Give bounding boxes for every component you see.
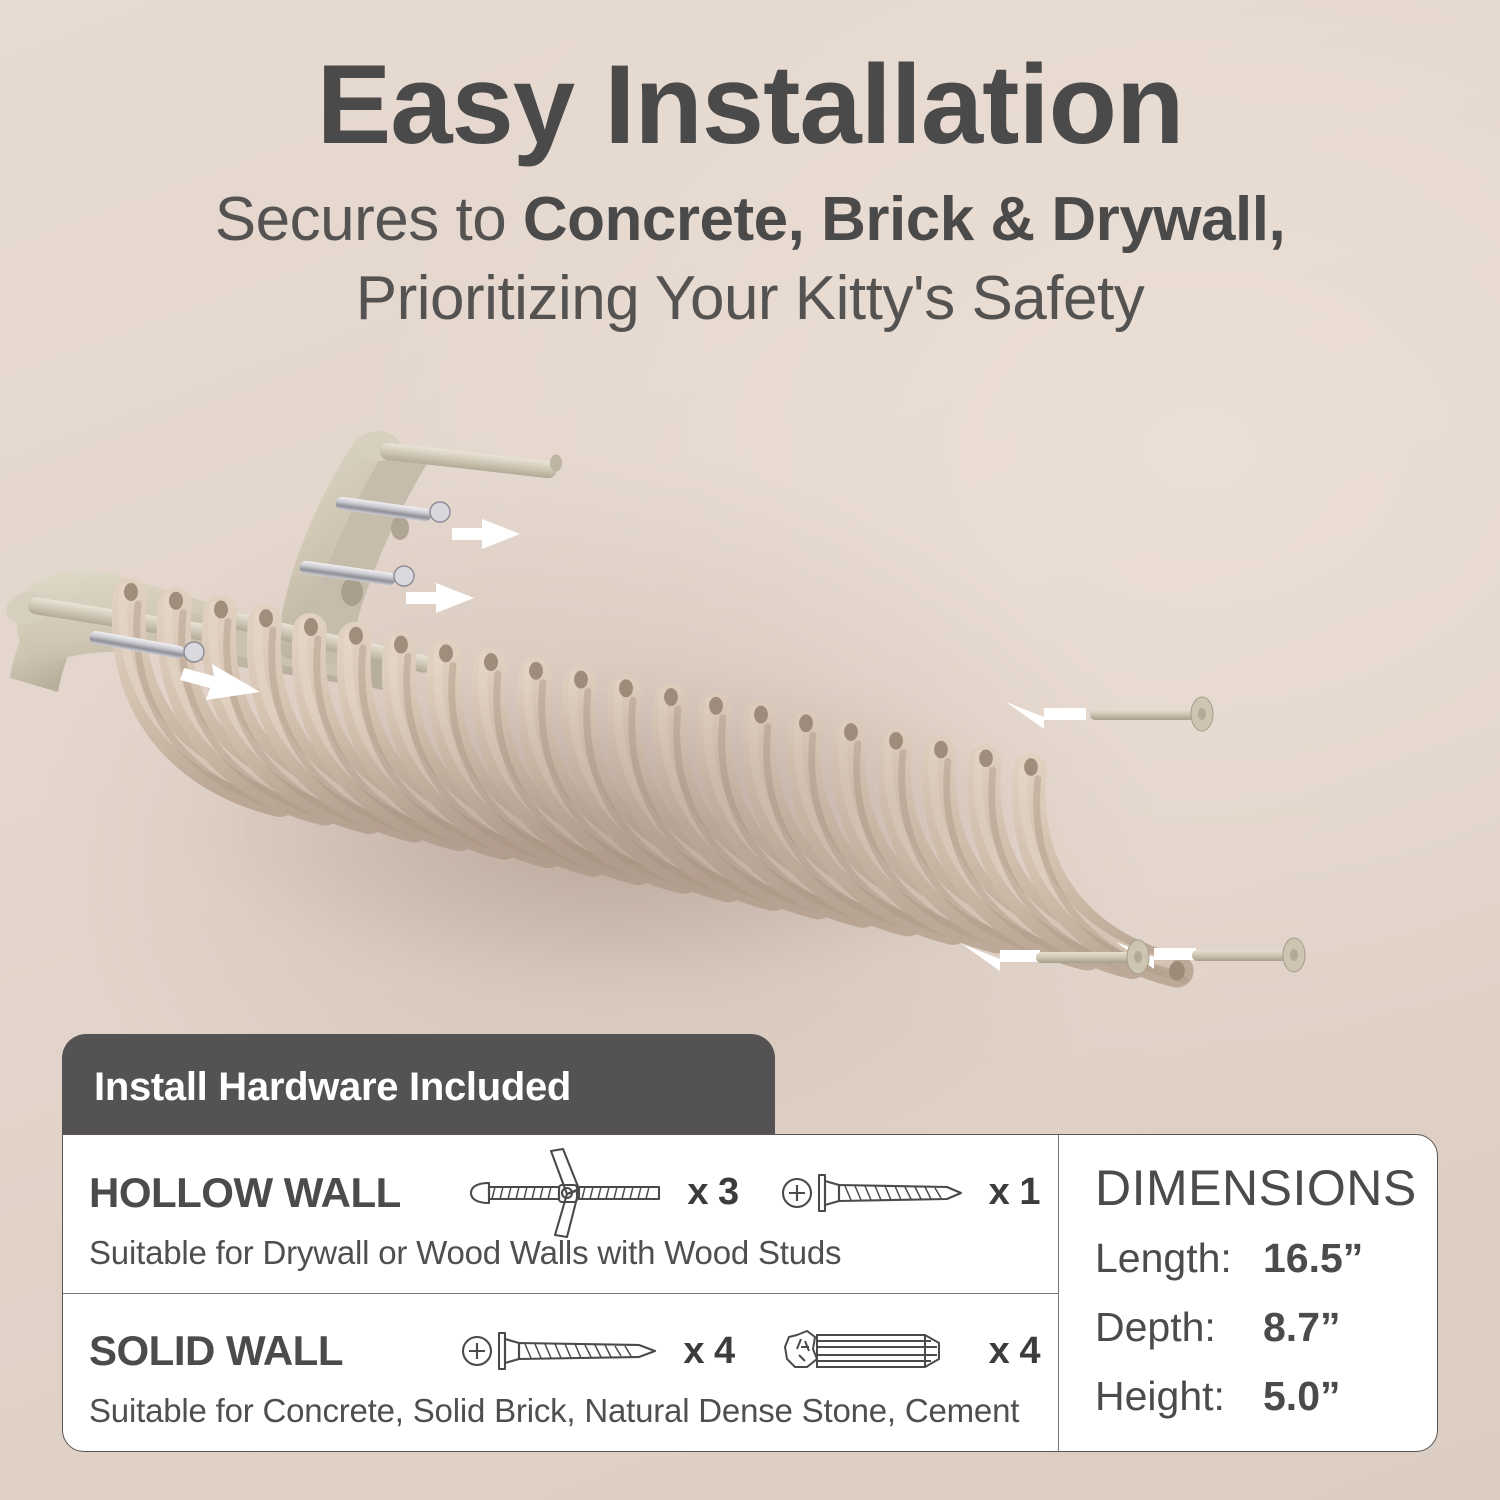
dimension-value-length: 16.5”: [1263, 1235, 1363, 1282]
subtitle-light-part: Secures to: [215, 185, 523, 254]
subtitle-line-2: Prioritizing Your Kitty's Safety: [0, 263, 1500, 336]
hollow-wall-items: x 3: [463, 1145, 1058, 1241]
phillips-screw-icon: [459, 1323, 669, 1379]
dimension-label-depth: Depth:: [1095, 1304, 1263, 1351]
hardware-rows: HOLLOW WALL: [63, 1135, 1059, 1451]
solid-wall-description: Suitable for Concrete, Solid Brick, Natu…: [89, 1392, 1058, 1430]
dimensions-title: DIMENSIONS: [1095, 1159, 1437, 1217]
solid-wall-item-2: x 4: [775, 1323, 1040, 1379]
hollow-wall-item-2-qty: x 1: [989, 1171, 1040, 1214]
card-body: HOLLOW WALL: [62, 1134, 1438, 1452]
toggle-bolt-icon: [463, 1145, 673, 1241]
hollow-wall-label: HOLLOW WALL: [89, 1169, 401, 1217]
solid-wall-title-line: SOLID WALL: [89, 1314, 1058, 1388]
hollow-wall-item-1: x 3: [463, 1145, 738, 1241]
solid-wall-item-1: x 4: [459, 1323, 734, 1379]
subtitle-line-1: Secures to Concrete, Brick & Drywall,: [0, 184, 1500, 257]
wall-anchor-plug-icon: [775, 1323, 975, 1379]
hardware-row-solid-wall: SOLID WALL: [63, 1294, 1058, 1452]
card-header-tab: Install Hardware Included: [62, 1034, 775, 1140]
phillips-screw-icon: [779, 1165, 975, 1221]
headline-block: Easy Installation Secures to Concrete, B…: [0, 48, 1500, 335]
solid-wall-item-1-qty: x 4: [683, 1330, 734, 1373]
hollow-wall-item-1-qty: x 3: [687, 1171, 738, 1214]
page-title: Easy Installation: [0, 48, 1500, 162]
card-header-label: Install Hardware Included: [94, 1065, 571, 1110]
dimension-row-length: Length: 16.5”: [1095, 1235, 1437, 1282]
solid-wall-label: SOLID WALL: [89, 1327, 343, 1375]
dimension-label-height: Height:: [1095, 1373, 1263, 1420]
dimension-value-depth: 8.7”: [1263, 1304, 1341, 1351]
dimension-row-depth: Depth: 8.7”: [1095, 1304, 1437, 1351]
hollow-wall-item-2: x 1: [779, 1165, 1040, 1221]
dimension-value-height: 5.0”: [1263, 1373, 1341, 1420]
hollow-wall-description: Suitable for Drywall or Wood Walls with …: [89, 1234, 1058, 1272]
infographic-canvas: Easy Installation Secures to Concrete, B…: [0, 0, 1500, 1500]
solid-wall-items: x 4: [459, 1323, 1058, 1379]
dimension-label-length: Length:: [1095, 1235, 1263, 1282]
subtitle-bold-part: Concrete, Brick & Drywall,: [523, 185, 1285, 254]
hardware-row-hollow-wall: HOLLOW WALL: [63, 1135, 1058, 1294]
dimension-row-height: Height: 5.0”: [1095, 1373, 1437, 1420]
hollow-wall-title-line: HOLLOW WALL: [89, 1156, 1058, 1230]
product-illustration: [0, 400, 1500, 1080]
dimensions-panel: DIMENSIONS Length: 16.5” Depth: 8.7” Hei…: [1059, 1135, 1437, 1451]
dimensions-list: Length: 16.5” Depth: 8.7” Height: 5.0”: [1095, 1235, 1437, 1420]
product-drop-shadow: [90, 570, 1270, 1040]
solid-wall-item-2-qty: x 4: [989, 1330, 1040, 1373]
hardware-info-card: Install Hardware Included HOLLOW WALL: [62, 1034, 1440, 1454]
